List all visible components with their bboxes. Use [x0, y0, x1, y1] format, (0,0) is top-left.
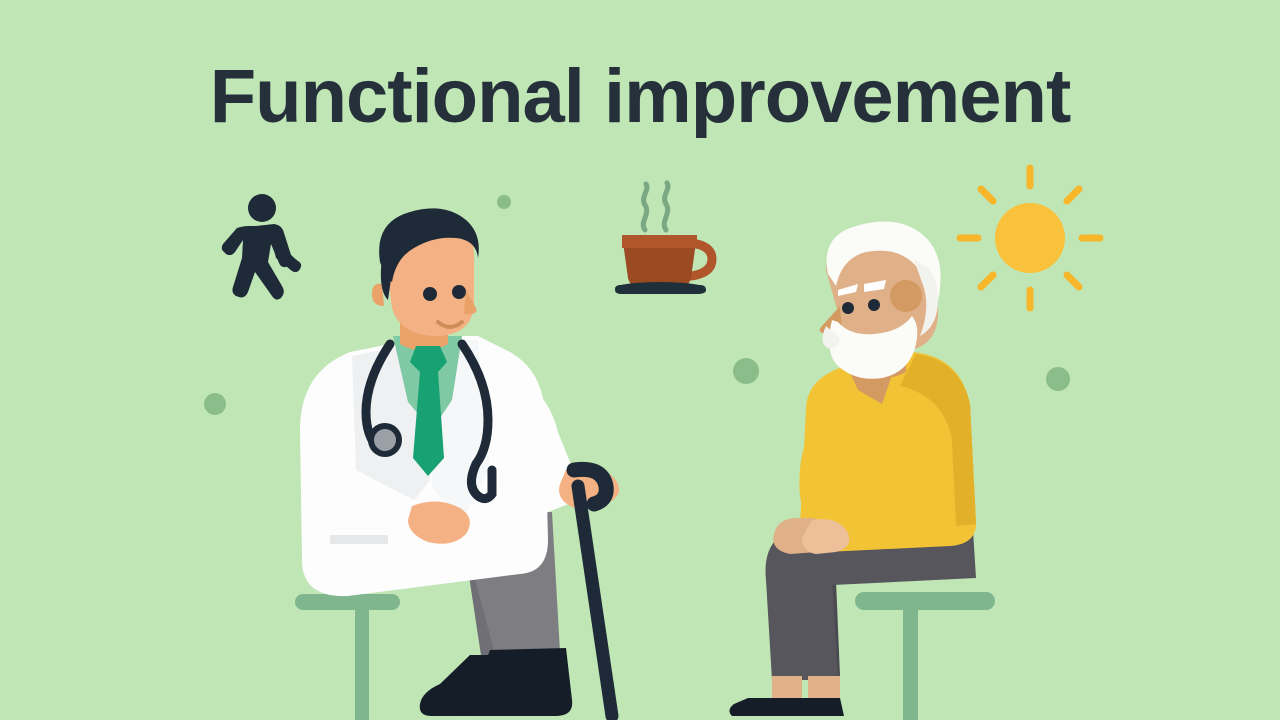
sun-icon	[960, 168, 1100, 308]
stethoscope-chestpiece	[374, 429, 396, 451]
sun-disc	[995, 203, 1065, 273]
patient-ear	[890, 280, 922, 312]
scene-canvas: Functional improvement	[0, 0, 1280, 720]
saucer-ellipse	[615, 282, 705, 294]
illustration-slide: Functional improvement	[0, 0, 1280, 720]
doctor-eye-left	[423, 287, 437, 301]
patient-eye-left	[842, 302, 854, 314]
page-title: Functional improvement	[210, 54, 1071, 139]
doctor-eye-right	[452, 285, 466, 299]
decor-dot	[1046, 367, 1070, 391]
decor-dot	[204, 393, 226, 415]
decor-dot	[497, 195, 511, 209]
patient-ankle-far	[772, 676, 802, 700]
patient-ankle-near	[808, 676, 840, 700]
decor-dot	[733, 358, 759, 384]
patient-shoe-far	[729, 698, 844, 716]
patient-eye-right	[868, 299, 880, 311]
doctor-coat-pocket	[330, 535, 388, 544]
cup-rim	[622, 235, 697, 248]
